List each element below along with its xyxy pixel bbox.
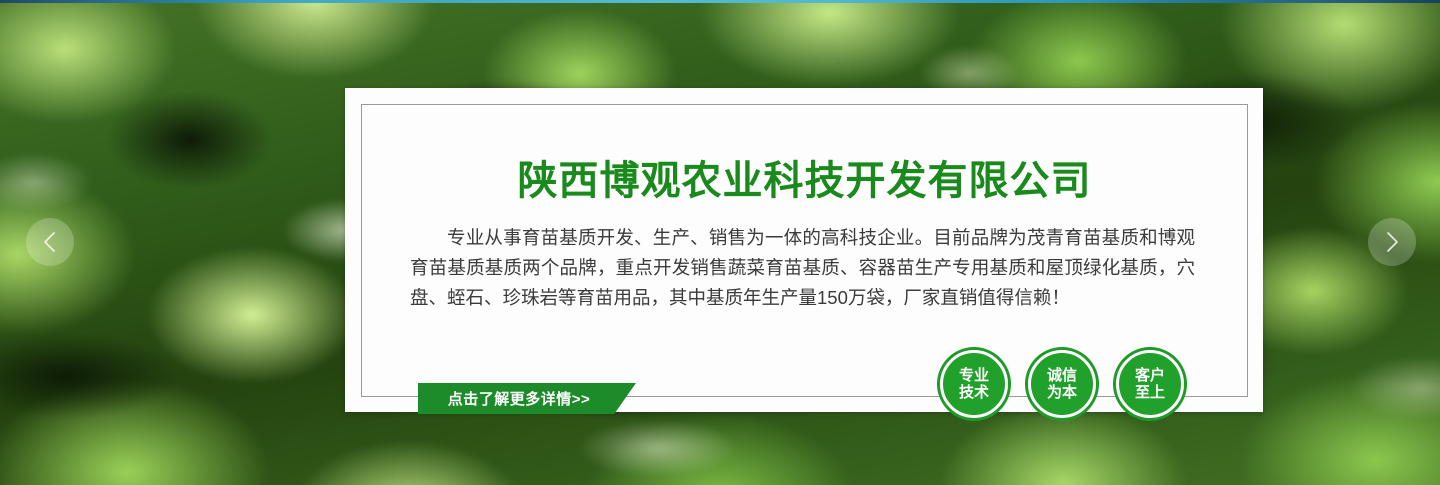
card-content: 陕西博观农业科技开发有限公司 专业从事育苗基质开发、生产、销售为一体的高科技企业… bbox=[362, 105, 1247, 396]
badge-label: 诚信为本 bbox=[1045, 367, 1079, 401]
chevron-left-icon bbox=[40, 230, 60, 254]
company-description: 专业从事育苗基质开发、生产、销售为一体的高科技企业。目前品牌为茂青育苗基质和博观… bbox=[410, 223, 1195, 313]
badge-customer-first[interactable]: 客户至上 bbox=[1116, 350, 1184, 418]
feature-badge-group: 专业技术 诚信为本 客户至上 bbox=[940, 350, 1184, 418]
badge-integrity-first[interactable]: 诚信为本 bbox=[1028, 350, 1096, 418]
chevron-right-icon bbox=[1382, 230, 1402, 254]
top-edge-strip bbox=[0, 0, 1440, 3]
badge-label: 客户至上 bbox=[1133, 367, 1167, 401]
card-inner-border: 陕西博观农业科技开发有限公司 专业从事育苗基质开发、生产、销售为一体的高科技企业… bbox=[361, 104, 1248, 397]
carousel-prev-button[interactable] bbox=[26, 218, 74, 266]
badge-label: 专业技术 bbox=[957, 367, 991, 401]
hero-banner: 陕西博观农业科技开发有限公司 专业从事育苗基质开发、生产、销售为一体的高科技企业… bbox=[0, 0, 1440, 485]
badge-professional-technology[interactable]: 专业技术 bbox=[940, 350, 1008, 418]
company-title: 陕西博观农业科技开发有限公司 bbox=[362, 161, 1247, 201]
carousel-next-button[interactable] bbox=[1368, 218, 1416, 266]
learn-more-button[interactable]: 点击了解更多详情>> bbox=[418, 383, 636, 414]
company-intro-card: 陕西博观农业科技开发有限公司 专业从事育苗基质开发、生产、销售为一体的高科技企业… bbox=[345, 88, 1263, 412]
